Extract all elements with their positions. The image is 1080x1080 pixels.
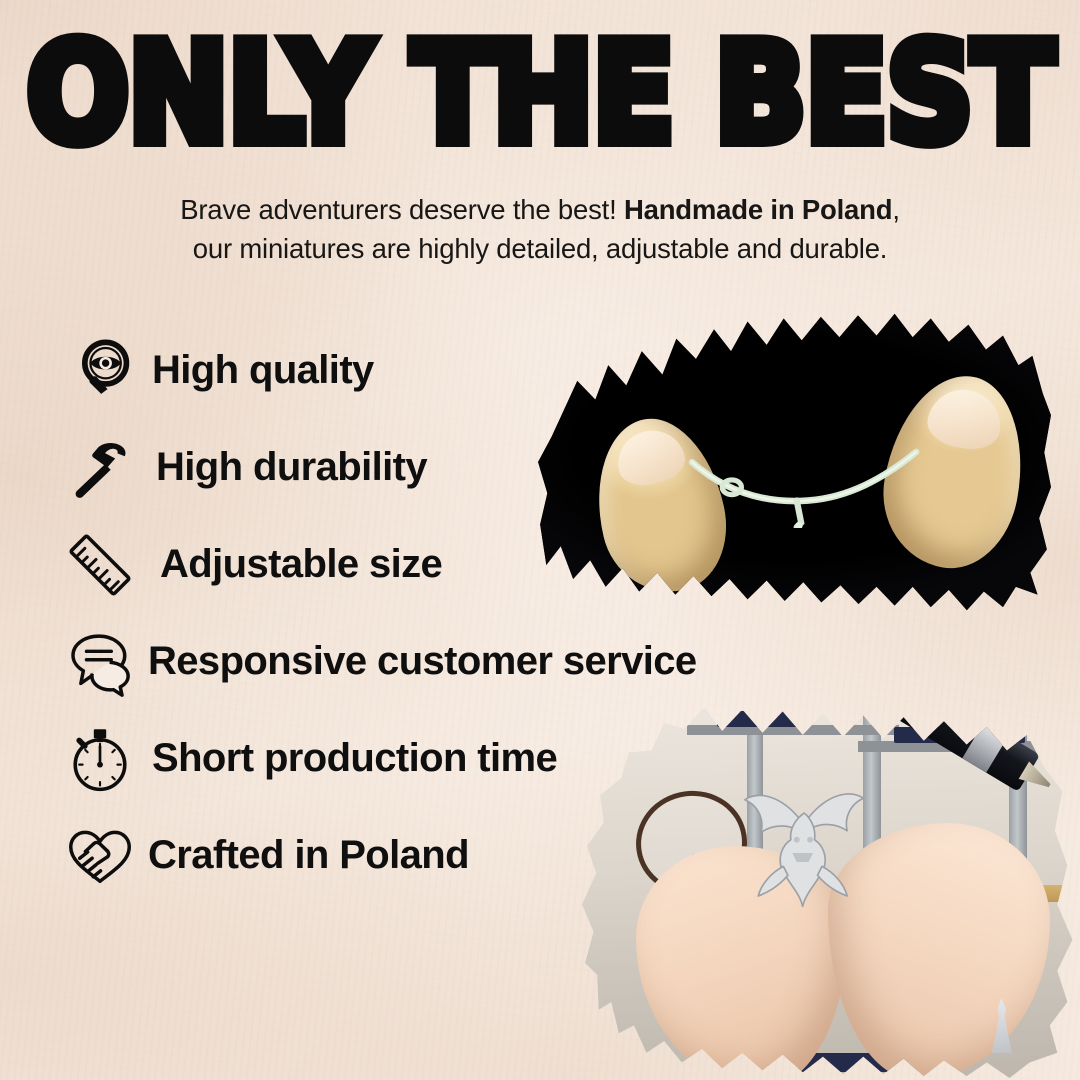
feature-label: High durability xyxy=(156,445,427,490)
feature-label: Short production time xyxy=(152,736,557,781)
feature-item-high-quality: High quality xyxy=(62,322,822,419)
feature-list: High quality High durability xyxy=(62,322,822,904)
feature-item-adjustable-size: Adjustable size xyxy=(62,516,822,613)
handshake-heart-icon xyxy=(62,818,138,894)
feature-label: Crafted in Poland xyxy=(148,833,469,878)
page-title: ONLY THE BEST xyxy=(0,25,1080,162)
subtitle: Brave adventurers deserve the best! Hand… xyxy=(60,190,1020,268)
subtitle-highlight: Handmade in Poland xyxy=(624,194,892,225)
promo-graphic: ONLY THE BEST Brave adventurers deserve … xyxy=(0,0,1080,1080)
feature-item-responsive-customer-service: Responsive customer service xyxy=(62,613,822,710)
magnifier-eye-icon xyxy=(62,333,138,409)
speech-bubbles-icon xyxy=(62,624,138,700)
feature-label: Adjustable size xyxy=(160,542,442,587)
feature-label: Responsive customer service xyxy=(148,639,697,684)
subtitle-comma: , xyxy=(892,194,899,225)
hammer-icon xyxy=(62,430,138,506)
subtitle-lead: Brave adventurers deserve the best! xyxy=(180,194,624,225)
right-fingernail xyxy=(924,383,1005,453)
feature-item-short-production-time: Short production time xyxy=(62,710,822,807)
subtitle-line2: our miniatures are highly detailed, adju… xyxy=(193,233,888,264)
stopwatch-icon xyxy=(62,721,138,797)
feature-item-high-durability: High durability xyxy=(62,419,822,516)
feature-label: High quality xyxy=(152,348,374,393)
feature-item-crafted-in-poland: Crafted in Poland xyxy=(62,807,822,904)
ruler-icon xyxy=(62,527,138,603)
